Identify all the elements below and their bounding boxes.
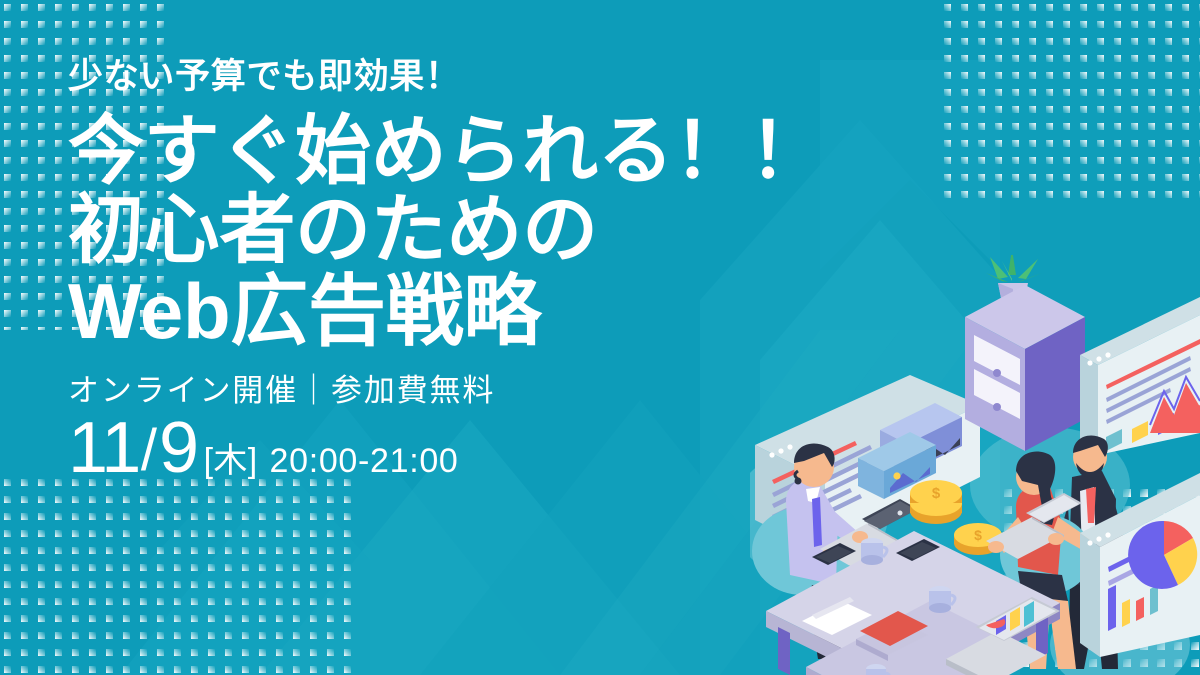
- isometric-illustration: $ $: [750, 255, 1200, 675]
- filing-cabinet-with-plant: [965, 255, 1085, 451]
- headline-block: 少ない予算でも即効果！ 今すぐ始められる！！ 初心者のための Web広告戦略 オ…: [68, 58, 788, 484]
- event-format-text: オンライン開催｜参加費無料: [68, 374, 788, 408]
- event-date-time: 11 / 9 [木] 20:00-21:00: [68, 412, 788, 484]
- webinar-banner: $ $: [0, 0, 1200, 675]
- eyebrow-text: 少ない予算でも即効果！: [68, 58, 788, 97]
- date-day-of-week: [木]: [204, 444, 258, 478]
- svg-text:$: $: [932, 485, 941, 502]
- headline-line-3: Web広告戦略: [68, 274, 788, 350]
- svg-text:$: $: [974, 527, 982, 543]
- headline-line-1: 今すぐ始められる！！: [68, 115, 788, 189]
- date-month: 11: [68, 412, 140, 484]
- browser-window-area-chart: [1080, 297, 1200, 455]
- event-time-range: 20:00-21:00: [270, 444, 459, 478]
- date-day: 9: [159, 412, 198, 484]
- date-separator: /: [141, 422, 157, 480]
- page-title: 今すぐ始められる！！ 初心者のための Web広告戦略: [68, 115, 788, 350]
- headline-line-2: 初心者のための: [68, 194, 788, 268]
